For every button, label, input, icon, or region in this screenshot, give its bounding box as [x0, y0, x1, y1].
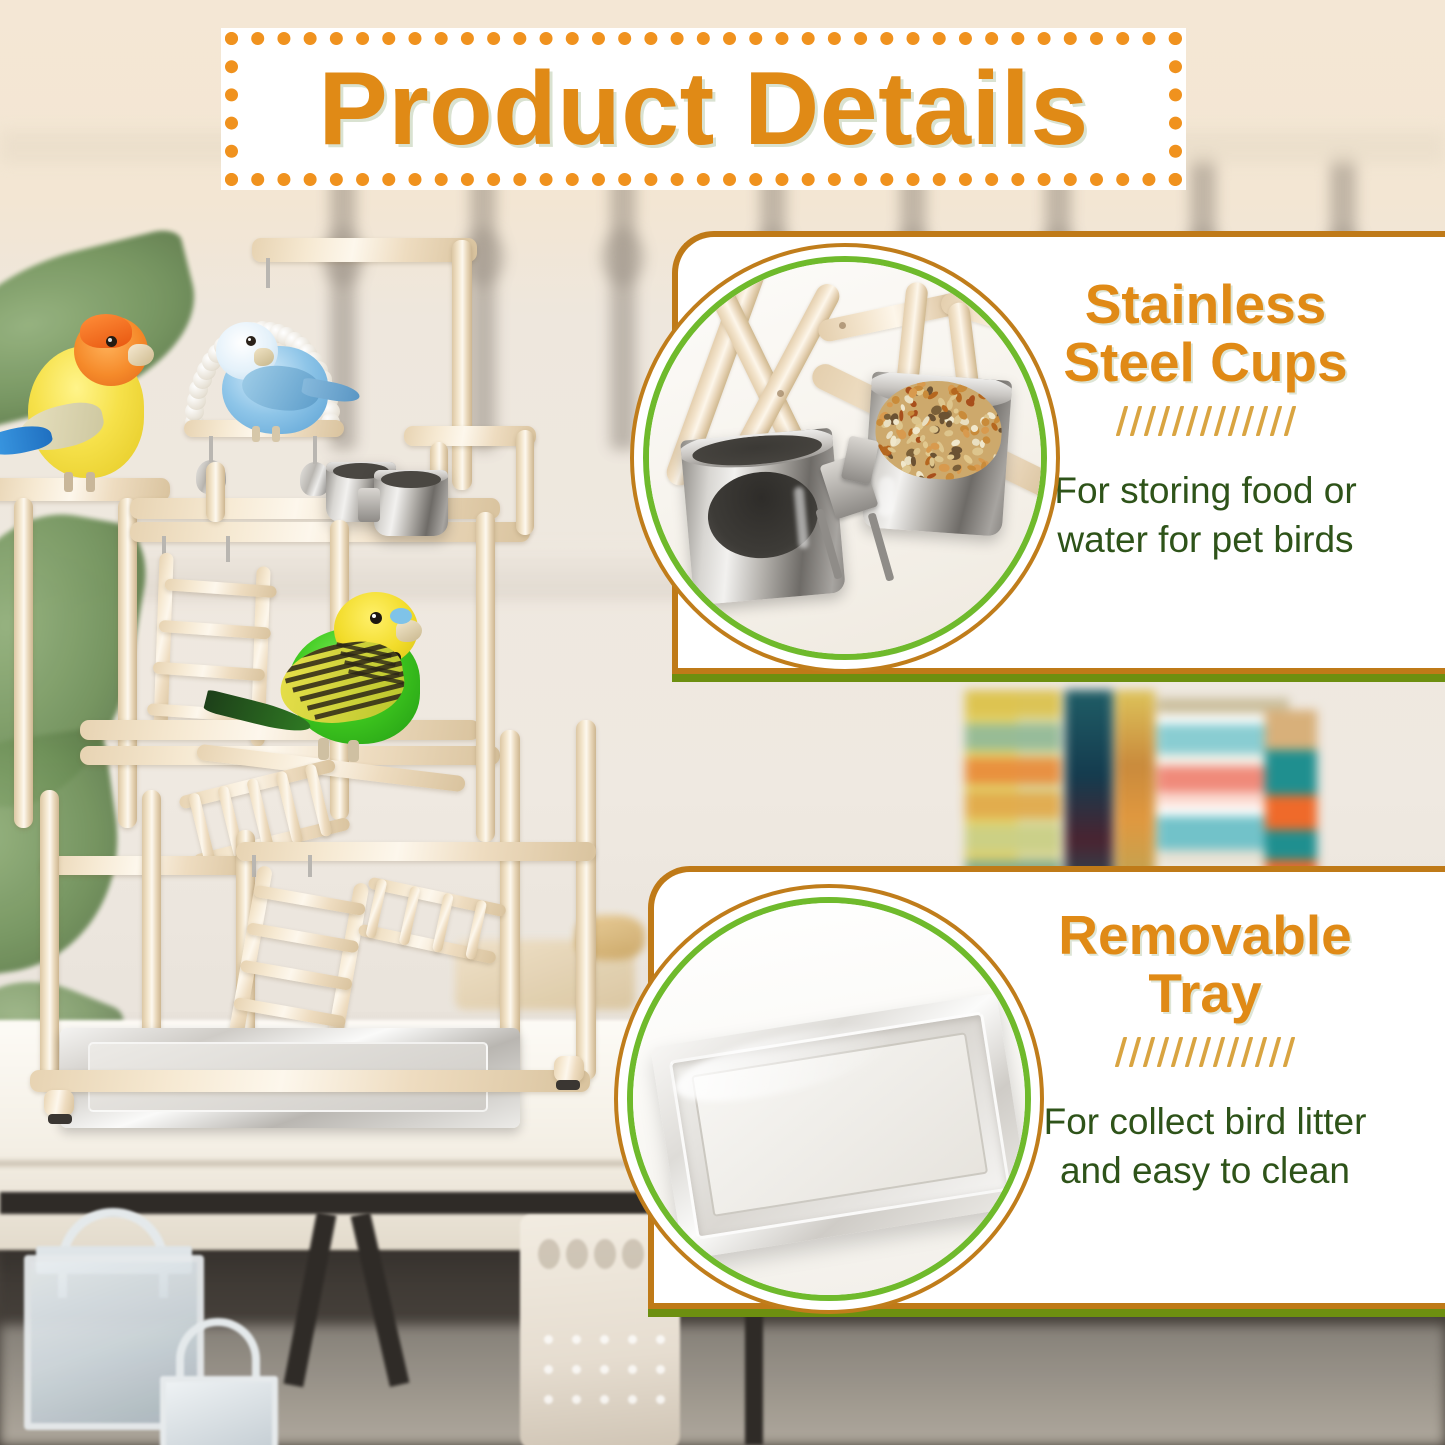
bird-lovebird-yellow — [0, 310, 178, 490]
divider-slash — [1283, 406, 1296, 436]
divider-slash — [1227, 1037, 1240, 1067]
decor-lantern-small — [150, 1318, 290, 1445]
divider-slashes — [974, 1037, 1436, 1067]
wood-upright — [118, 498, 137, 828]
ladder-rail — [367, 877, 506, 918]
dowel-screw — [777, 390, 784, 397]
cup-interior — [381, 471, 440, 488]
blanket-stripe — [1265, 750, 1317, 795]
vase-dot — [572, 1365, 581, 1374]
feature-title-line2: Tray — [974, 964, 1436, 1022]
rubber-foot — [556, 1080, 580, 1090]
divider-slash — [1241, 406, 1254, 436]
blanket-band — [1017, 792, 1061, 818]
ladder-right — [349, 877, 507, 1004]
bird-seed — [939, 417, 944, 424]
dowel-screw — [839, 322, 846, 329]
vase-dot — [600, 1395, 609, 1404]
blanket-band — [965, 690, 1017, 716]
ladder-rung — [253, 885, 366, 916]
wood-upright — [40, 790, 59, 1090]
bird-seed — [998, 409, 1003, 418]
bird-seed — [995, 471, 1005, 478]
vase-dot — [656, 1335, 665, 1344]
wood-post — [516, 430, 534, 535]
bird-cere-blue — [390, 608, 412, 624]
divider-slash — [1283, 1037, 1296, 1067]
divider-slash — [1157, 1037, 1170, 1067]
bird-budgie-blue — [198, 322, 348, 442]
divider-slash — [1255, 1037, 1268, 1067]
bird-leg — [272, 426, 280, 442]
bird-leg — [348, 740, 359, 762]
circle-inner-ring — [643, 256, 1047, 660]
divider-slash — [1269, 1037, 1282, 1067]
wood-base-rail — [30, 1070, 590, 1092]
divider-slash — [1269, 406, 1282, 436]
blanket-stripe — [1265, 710, 1317, 750]
bird-eye-glint — [248, 338, 251, 341]
bird-budgie-green — [184, 586, 474, 796]
bird-seed — [971, 438, 981, 447]
divider-slash — [1199, 1037, 1212, 1067]
blanket-stripe — [1265, 795, 1317, 830]
ladder-rung — [246, 922, 359, 953]
wood-top-rail — [252, 238, 477, 262]
vase-dot — [628, 1365, 637, 1374]
divider-slash — [1115, 406, 1128, 436]
bird-seed — [893, 471, 903, 479]
bird-eye-glint — [108, 338, 112, 342]
page-title-banner: Product Details — [221, 28, 1186, 190]
vase-dot — [656, 1365, 665, 1374]
steel-cup-with-seed — [862, 371, 1013, 536]
bird-seed — [886, 402, 893, 407]
ladder-rung — [240, 959, 353, 990]
bird-seed — [922, 390, 928, 399]
bird-eye-glint — [372, 614, 376, 618]
cup-highlight — [877, 476, 896, 517]
feature-title-line1: Removable — [974, 906, 1436, 964]
bird-leg — [64, 472, 73, 492]
lantern-body — [160, 1376, 278, 1445]
vase-dot — [628, 1335, 637, 1344]
feature-description-line2: and easy to clean — [974, 1146, 1436, 1195]
steel-cup — [374, 470, 448, 536]
divider-slash — [1213, 1037, 1226, 1067]
wood-upright — [576, 720, 596, 1080]
ladder-rung — [233, 997, 346, 1028]
vase-dot — [628, 1395, 637, 1404]
vase-dot — [572, 1395, 581, 1404]
blanket-band — [1017, 758, 1061, 784]
cup-clamp — [358, 488, 380, 522]
feature-image-circle-tray — [614, 884, 1044, 1314]
bird-seed — [934, 455, 944, 462]
vase-cutout — [594, 1239, 616, 1269]
rubber-foot — [48, 1114, 72, 1124]
bird-seed — [944, 429, 954, 437]
wood-upright — [14, 498, 33, 828]
page-title: Product Details — [318, 57, 1088, 161]
vase-dot — [544, 1395, 553, 1404]
blanket-band — [1017, 724, 1061, 750]
bird-seed — [945, 471, 956, 482]
blanket-band — [965, 758, 1017, 784]
circle-inner-ring — [627, 897, 1031, 1301]
bird-seed — [926, 472, 937, 480]
divider-slash — [1143, 406, 1156, 436]
bird-seed — [962, 454, 974, 466]
vase-dot — [600, 1335, 609, 1344]
vase-dot — [544, 1335, 553, 1344]
bird-leg — [252, 426, 260, 442]
divider-slash — [1143, 1037, 1156, 1067]
wood-foot — [554, 1056, 584, 1082]
divider-slash — [1213, 406, 1226, 436]
bird-beak — [128, 344, 154, 366]
divider-slash — [1199, 406, 1212, 436]
product-photo-playstand — [0, 230, 660, 1230]
bird-seed — [972, 447, 984, 456]
blanket-rolled — [1265, 710, 1317, 890]
ladder-chain — [226, 536, 230, 562]
wood-upright — [452, 240, 472, 490]
blanket-stripe — [1265, 830, 1317, 860]
bird-leg — [86, 472, 95, 492]
divider-slash — [1129, 406, 1142, 436]
divider-slash — [1129, 1037, 1142, 1067]
infographic-canvas: Product Details Stainless Steel Cups For… — [0, 0, 1445, 1445]
vase-cutout — [538, 1239, 560, 1269]
vase-dot — [572, 1335, 581, 1344]
divider-slash — [1171, 406, 1184, 436]
divider-slash — [1241, 1037, 1254, 1067]
bird-seed — [998, 427, 1004, 433]
bird-seed — [911, 456, 917, 466]
divider-slash — [1171, 1037, 1184, 1067]
blanket-band — [1017, 690, 1061, 716]
bird-seed — [981, 461, 987, 470]
blanket-band — [965, 792, 1017, 818]
divider-slash — [1227, 406, 1240, 436]
bird-leg — [318, 738, 329, 760]
vase-dot — [656, 1395, 665, 1404]
vase-dot — [544, 1365, 553, 1374]
bird-seed — [966, 465, 976, 472]
blanket-band — [965, 826, 1017, 852]
bird-seed — [939, 463, 950, 472]
bird-seed — [902, 473, 915, 483]
blanket-band — [965, 724, 1017, 750]
vase-dot — [600, 1365, 609, 1374]
bird-seed — [996, 462, 1005, 470]
divider-slash — [1157, 406, 1170, 436]
divider-slash — [1255, 406, 1268, 436]
bird-seed — [945, 420, 953, 429]
bird-seed — [899, 410, 904, 421]
wood-upright — [476, 512, 495, 842]
wood-foot — [44, 1090, 74, 1116]
divider-slash — [1185, 406, 1198, 436]
wood-post — [206, 462, 225, 522]
swing-hook — [266, 258, 270, 288]
bird-seed — [998, 478, 1005, 483]
wood-rail — [236, 842, 596, 861]
divider-slash — [1115, 1037, 1128, 1067]
bird-seed — [946, 400, 953, 411]
divider-slash — [1185, 1037, 1198, 1067]
vase-cutout — [566, 1239, 588, 1269]
bird-seed — [981, 426, 991, 435]
feature-title-line1: Stainless — [978, 275, 1433, 333]
blanket-band — [1017, 826, 1061, 852]
feature-image-circle-cups — [630, 243, 1060, 673]
